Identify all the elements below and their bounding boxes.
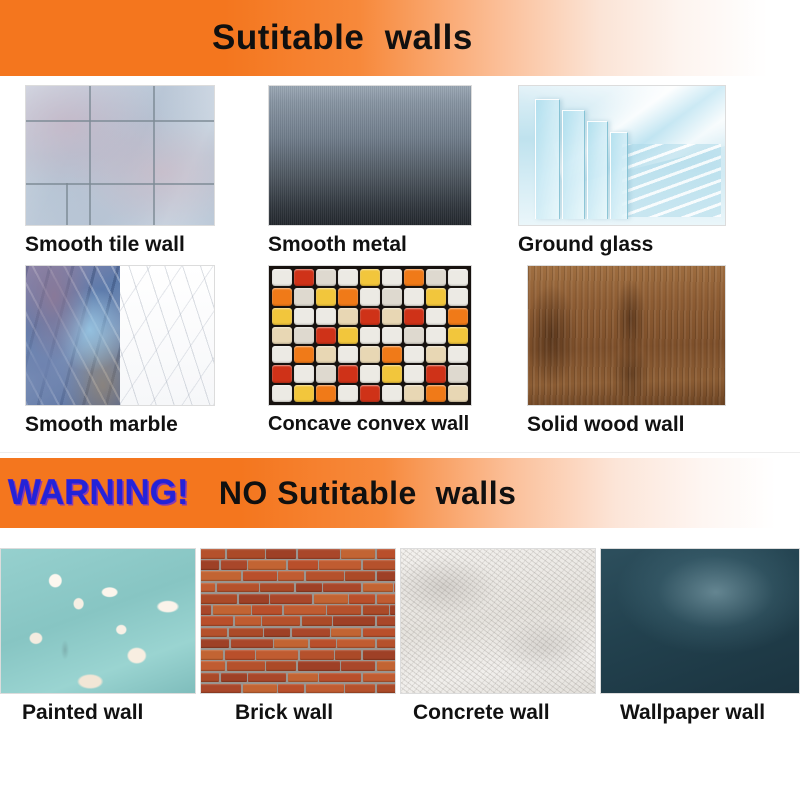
mosaic-tile — [360, 269, 380, 286]
mosaic-tile — [360, 385, 380, 402]
brick — [337, 639, 375, 649]
brick — [200, 549, 225, 559]
brick-course — [200, 628, 395, 638]
wallpaper-floret-icon: ✿ — [694, 615, 707, 630]
brick — [200, 616, 233, 626]
card-brick-wall: Brick wall — [200, 548, 396, 723]
caption-painted-wall: Painted wall — [22, 702, 196, 723]
solid-wood-wall-image — [527, 265, 726, 406]
brick — [278, 571, 304, 581]
card-smooth-tile-wall: Smooth tile wall — [25, 85, 215, 255]
brick — [345, 571, 375, 581]
mosaic-tile — [426, 288, 446, 305]
mosaic-tile — [272, 308, 292, 325]
brick — [260, 583, 294, 593]
brick — [335, 650, 361, 660]
brick — [363, 605, 389, 615]
mosaic-tile — [426, 308, 446, 325]
brick — [298, 661, 340, 671]
brick — [363, 650, 397, 660]
tile-grout-line — [153, 86, 155, 225]
brick — [327, 605, 361, 615]
mosaic-tile — [338, 327, 358, 344]
mosaic-tile — [272, 288, 292, 305]
concave-convex-wall-image — [268, 265, 472, 406]
wallpaper-floret-icon: ✿ — [736, 617, 745, 628]
brick — [306, 571, 344, 581]
brick — [278, 684, 304, 694]
brick-course — [200, 616, 395, 626]
mosaic-tile — [316, 308, 336, 325]
brick — [200, 639, 229, 649]
mosaic-tile — [338, 365, 358, 382]
brick — [235, 616, 261, 626]
brick — [302, 616, 332, 626]
brick — [200, 628, 227, 638]
card-wallpaper-wall: ✿✿✿✿✿✿✿✿✿✿✿✿✿✿✿✿✿✿✿✿✿✿✿✿✿ Wallpaper wall — [600, 548, 800, 723]
caption-concrete-wall: Concrete wall — [413, 702, 596, 723]
brick — [229, 628, 263, 638]
warning-banner: WARNING! NO Sutitable walls — [0, 458, 800, 528]
mosaic-tile — [404, 365, 424, 382]
mosaic-tile — [338, 385, 358, 402]
mosaic-tile — [294, 385, 314, 402]
brick — [200, 594, 237, 604]
smooth-metal-image — [268, 85, 472, 226]
brick-course — [200, 549, 395, 559]
card-ground-glass: Ground glass — [518, 85, 726, 255]
mosaic-tile — [404, 308, 424, 325]
section-divider — [0, 452, 800, 453]
caption-smooth-tile-wall: Smooth tile wall — [25, 234, 215, 255]
brick — [377, 571, 397, 581]
brick-wall-image — [200, 548, 396, 694]
wallpaper-floret-icon: ✿ — [614, 673, 627, 688]
wallpaper-floret-icon: ✿ — [656, 617, 665, 628]
marble-blue-half — [26, 266, 120, 405]
brick — [266, 549, 296, 559]
mosaic-tile — [382, 308, 402, 325]
mosaic-tile — [448, 365, 468, 382]
wallpaper-floret-icon: ✿ — [656, 558, 665, 569]
brick — [252, 605, 282, 615]
brick — [377, 661, 397, 671]
mosaic-tile — [426, 346, 446, 363]
wallpaper-floret-icon: ✿ — [656, 675, 665, 686]
smooth-tile-wall-image — [25, 85, 215, 226]
mosaic-tile — [272, 327, 292, 344]
brick — [310, 639, 336, 649]
brick — [319, 673, 361, 683]
caption-smooth-marble: Smooth marble — [25, 414, 215, 435]
tile-grout-line — [26, 120, 214, 122]
glass-pane — [587, 121, 608, 219]
concrete-wall-image — [400, 548, 596, 694]
mosaic-tile — [448, 269, 468, 286]
mosaic-tile — [316, 346, 336, 363]
wallpaper-floret-icon: ✿ — [754, 585, 767, 600]
brick — [200, 571, 241, 581]
brick — [390, 605, 396, 615]
brick — [200, 650, 223, 660]
mosaic-tile — [360, 365, 380, 382]
brick — [248, 560, 286, 570]
brick — [377, 594, 397, 604]
brick — [363, 583, 393, 593]
mosaic-tile — [426, 269, 446, 286]
brick — [200, 673, 219, 683]
mosaic-tile — [360, 308, 380, 325]
brick — [345, 684, 375, 694]
brick — [377, 639, 397, 649]
brick — [221, 673, 247, 683]
wallpaper-floret-icon: ✿ — [716, 646, 725, 657]
infographic-page: Sutitable walls Smooth tile wall Smooth … — [0, 0, 800, 800]
wallpaper-floret-icon: ✿ — [614, 556, 627, 571]
glass-pane — [535, 99, 560, 220]
wallpaper-floret-icon: ✿ — [716, 587, 725, 598]
wallpaper-floret-icon: ✿ — [636, 646, 645, 657]
mosaic-tile — [382, 327, 402, 344]
brick-course — [200, 560, 395, 570]
brick — [341, 661, 375, 671]
mosaic-tile — [448, 308, 468, 325]
wallpaper-floret-icon: ✿ — [754, 644, 767, 659]
brick — [264, 628, 290, 638]
warning-label: WARNING! — [8, 473, 189, 513]
painted-wall-image — [0, 548, 196, 694]
card-concave-convex-wall: Concave convex wall — [268, 265, 472, 434]
mosaic-tile — [316, 327, 336, 344]
brick — [200, 661, 225, 671]
brick — [239, 594, 269, 604]
brick — [377, 684, 397, 694]
brick — [377, 616, 397, 626]
wallpaper-floret-icon: ✿ — [674, 644, 687, 659]
mosaic-tile — [426, 327, 446, 344]
mosaic-tile — [338, 346, 358, 363]
brick — [314, 594, 348, 604]
suitable-walls-banner: Sutitable walls — [0, 0, 800, 76]
mosaic-tile — [338, 288, 358, 305]
brick — [323, 583, 361, 593]
mosaic-tile — [448, 288, 468, 305]
glass-stack — [622, 144, 721, 216]
mosaic-tile — [448, 327, 468, 344]
mosaic-tile — [294, 327, 314, 344]
brick-course — [200, 684, 395, 694]
mosaic-tile — [404, 288, 424, 305]
brick — [306, 684, 344, 694]
brick — [288, 560, 318, 570]
suitable-walls-title: Sutitable walls — [212, 18, 473, 58]
wallpaper-floret-icon: ✿ — [736, 558, 745, 569]
mosaic-tile — [360, 346, 380, 363]
brick — [300, 650, 334, 660]
brick — [256, 650, 298, 660]
no-suitable-walls-title: NO Sutitable walls — [219, 475, 517, 512]
wallpaper-floret-icon: ✿ — [796, 646, 800, 657]
brick — [292, 628, 330, 638]
brick — [270, 594, 312, 604]
brick — [231, 639, 273, 649]
mosaic-tile — [404, 385, 424, 402]
wallpaper-floret-icon: ✿ — [796, 587, 800, 598]
brick — [331, 628, 361, 638]
mosaic-tile — [404, 346, 424, 363]
mosaic-tile — [294, 308, 314, 325]
brick — [200, 560, 219, 570]
mosaic-tile — [272, 346, 292, 363]
caption-solid-wood-wall: Solid wood wall — [527, 414, 726, 435]
wallpaper-floret-icon: ✿ — [774, 556, 787, 571]
mosaic-tile — [338, 269, 358, 286]
mosaic-tile — [382, 385, 402, 402]
caption-ground-glass: Ground glass — [518, 234, 726, 255]
card-solid-wood-wall: Solid wood wall — [527, 265, 726, 435]
brick — [221, 560, 247, 570]
brick-course — [200, 571, 395, 581]
smooth-marble-image — [25, 265, 215, 406]
mosaic-tile — [360, 327, 380, 344]
brick — [394, 583, 396, 593]
wallpaper-floret-icon: ✿ — [774, 615, 787, 630]
brick — [319, 560, 361, 570]
brick-course — [200, 583, 395, 593]
wallpaper-floret-icon: ✿ — [674, 585, 687, 600]
brick — [274, 639, 308, 649]
brick — [243, 684, 277, 694]
mosaic-tile — [360, 288, 380, 305]
wallpaper-floret-icon: ✿ — [694, 556, 707, 571]
brick — [363, 560, 397, 570]
mosaic-tile — [426, 385, 446, 402]
wallpaper-floret-icon: ✿ — [636, 587, 645, 598]
brick — [200, 684, 241, 694]
wallpaper-floret-icon: ✿ — [774, 673, 787, 688]
mosaic-tile — [316, 365, 336, 382]
mosaic-tile — [382, 346, 402, 363]
brick — [296, 583, 322, 593]
brick-course — [200, 673, 395, 683]
wallpaper-wall-image: ✿✿✿✿✿✿✿✿✿✿✿✿✿✿✿✿✿✿✿✿✿✿✿✿✿ — [600, 548, 800, 694]
mosaic-tile — [294, 346, 314, 363]
mosaic-tile — [404, 327, 424, 344]
glass-pane — [610, 132, 628, 219]
brick-course — [200, 661, 395, 671]
brick-course — [200, 639, 395, 649]
brick — [200, 605, 211, 615]
brick — [262, 616, 300, 626]
mosaic-tile — [272, 269, 292, 286]
mosaic-tile — [272, 385, 292, 402]
mosaic-tile — [382, 288, 402, 305]
brick — [227, 661, 265, 671]
mosaic-tile — [426, 365, 446, 382]
wallpaper-floret-icon: ✿ — [694, 673, 707, 688]
mosaic-tile — [316, 288, 336, 305]
brick-course — [200, 605, 395, 615]
mosaic-tile — [316, 269, 336, 286]
brick — [288, 673, 318, 683]
caption-concave-convex-wall: Concave convex wall — [268, 414, 472, 434]
marble-white-half — [120, 266, 214, 405]
mosaic-tile — [382, 365, 402, 382]
tile-grout-line — [89, 86, 91, 225]
brick-course — [200, 594, 395, 604]
brick — [298, 549, 340, 559]
tile-grout-line — [26, 183, 214, 185]
brick — [284, 605, 326, 615]
brick — [363, 673, 397, 683]
brick-course — [200, 650, 395, 660]
brick — [333, 616, 375, 626]
mosaic-tile — [294, 365, 314, 382]
brick — [377, 549, 397, 559]
glass-pane — [562, 110, 585, 219]
mosaic-tile — [294, 288, 314, 305]
brick — [243, 571, 277, 581]
brick — [213, 605, 251, 615]
tile-grout-line — [66, 183, 68, 225]
brick — [200, 583, 215, 593]
mosaic-tile — [448, 385, 468, 402]
card-smooth-metal: Smooth metal — [268, 85, 472, 255]
mosaic-tile — [272, 365, 292, 382]
mosaic-tile — [404, 269, 424, 286]
caption-wallpaper-wall: Wallpaper wall — [620, 702, 800, 723]
brick — [341, 549, 375, 559]
brick — [363, 628, 397, 638]
brick — [349, 594, 375, 604]
brick — [227, 549, 265, 559]
wallpaper-floret-icon: ✿ — [614, 615, 627, 630]
brick — [225, 650, 255, 660]
caption-smooth-metal: Smooth metal — [268, 234, 472, 255]
mosaic-tile — [448, 346, 468, 363]
brick — [217, 583, 259, 593]
caption-brick-wall: Brick wall — [235, 702, 396, 723]
ground-glass-image — [518, 85, 726, 226]
wallpaper-floret-icon: ✿ — [736, 675, 745, 686]
mosaic-tile — [382, 269, 402, 286]
mosaic-tile — [294, 269, 314, 286]
card-concrete-wall: Concrete wall — [400, 548, 596, 723]
mosaic-tile — [338, 308, 358, 325]
card-smooth-marble: Smooth marble — [25, 265, 215, 435]
brick — [248, 673, 286, 683]
mosaic-tile — [316, 385, 336, 402]
brick — [266, 661, 296, 671]
card-painted-wall: Painted wall — [0, 548, 196, 723]
